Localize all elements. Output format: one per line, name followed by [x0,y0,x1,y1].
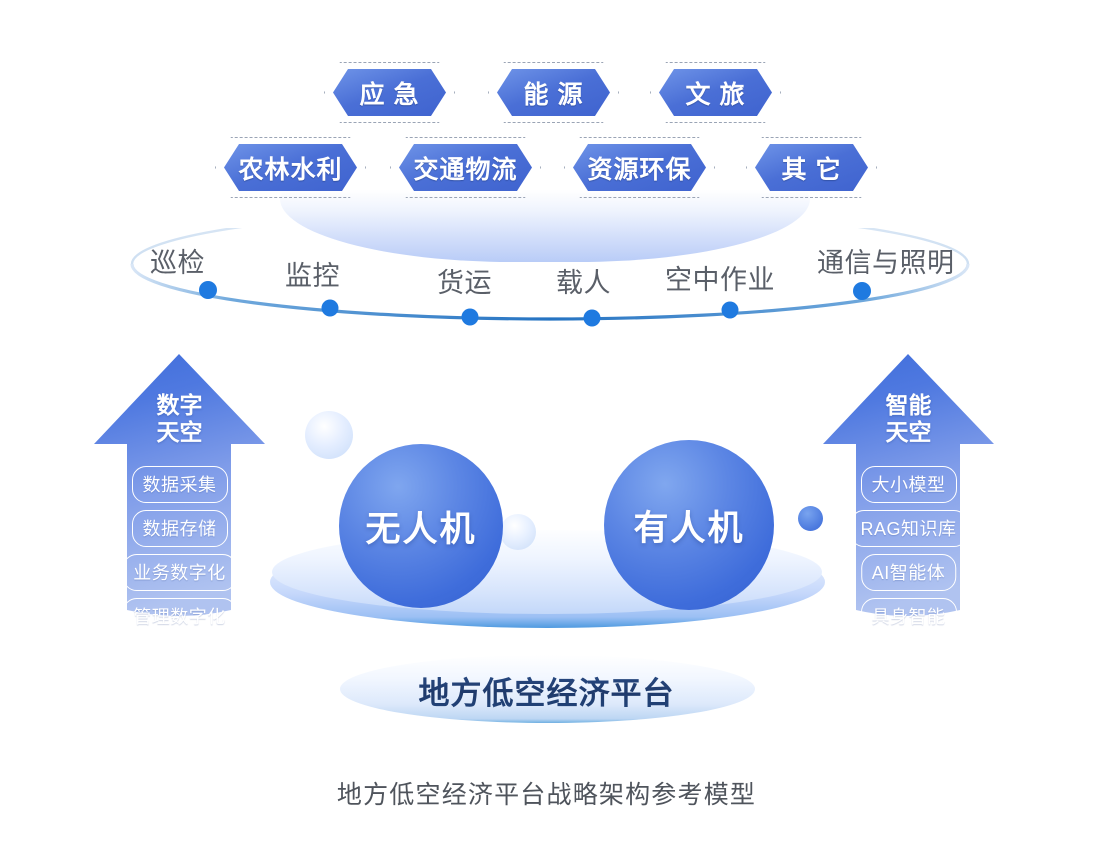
industry-chip-label: 农林水利 [224,144,357,191]
decorative-circle-small [305,411,353,459]
industry-chip-energy[interactable]: 能 源 [497,69,610,116]
scenario-node-dot [199,281,217,299]
left-arrow-item-business-digitalization[interactable]: 业务数字化 [122,554,237,591]
left-arrow-item-management-digitalization[interactable]: 管理数字化 [122,598,237,635]
industry-chip-label: 应 急 [333,69,446,116]
diagram-caption: 地方低空经济平台战略架构参考模型 [0,775,1093,811]
scenario-label-monitoring: 监控 [285,254,340,293]
right-arrow-item-ai-agent[interactable]: AI智能体 [861,554,957,591]
industry-chip-label: 资源环保 [573,144,706,191]
right-arrow-item-rag-knowledge-base[interactable]: RAG知识库 [849,510,967,547]
sphere-label: 无人机 [365,501,476,552]
industry-chip-culture-tourism[interactable]: 文 旅 [659,69,772,116]
decorative-circle-small [500,514,536,550]
diagram-canvas: 应 急 能 源 文 旅 农林水利 交通物流 资源环保 其 它 [0,0,1093,846]
scenario-label-aerial-work: 空中作业 [665,258,775,297]
industry-chip-resources-environment[interactable]: 资源环保 [573,144,706,191]
industry-chip-label: 能 源 [497,69,610,116]
industry-chip-other[interactable]: 其 它 [755,144,868,191]
decorative-circle-accent [798,506,823,531]
industry-chip-transport-logistics[interactable]: 交通物流 [399,144,532,191]
scenario-node-dot [322,300,339,317]
scenario-label-passenger: 载人 [556,261,611,300]
sphere-label: 有人机 [633,500,744,551]
industry-chip-label: 交通物流 [399,144,532,191]
scenario-label-freight: 货运 [437,261,492,300]
industry-chip-label: 其 它 [755,144,868,191]
industry-chip-label: 文 旅 [659,69,772,116]
scenario-label-inspection: 巡检 [150,241,205,280]
left-arrow-title: 数字 天空 [92,392,267,446]
industry-chip-agriculture-forestry-water[interactable]: 农林水利 [224,144,357,191]
platform-title: 地方低空经济平台 [0,668,1093,713]
left-arrow-digital-sky[interactable]: 数字 天空 数据采集 数据存储 业务数字化 管理数字化 [92,352,267,637]
right-arrow-item-large-small-models[interactable]: 大小模型 [861,466,957,503]
industry-chip-emergency[interactable]: 应 急 [333,69,446,116]
right-arrow-title: 智能 天空 [821,392,996,446]
scenario-node-dot [462,309,479,326]
right-arrow-item-embodied-intelligence[interactable]: 具身智能 [861,598,957,635]
right-arrow-intelligent-sky[interactable]: 智能 天空 大小模型 RAG知识库 AI智能体 具身智能 [821,352,996,637]
scenario-node-dot [584,310,601,327]
left-arrow-item-data-collection[interactable]: 数据采集 [132,466,228,503]
scenario-label-communication-lighting: 通信与照明 [817,241,955,280]
left-arrow-item-data-storage[interactable]: 数据存储 [132,510,228,547]
scenario-node-dot [853,282,871,300]
scenario-node-dot [722,302,739,319]
sphere-unmanned-aircraft[interactable]: 无人机 [339,444,503,608]
sphere-manned-aircraft[interactable]: 有人机 [604,440,774,610]
